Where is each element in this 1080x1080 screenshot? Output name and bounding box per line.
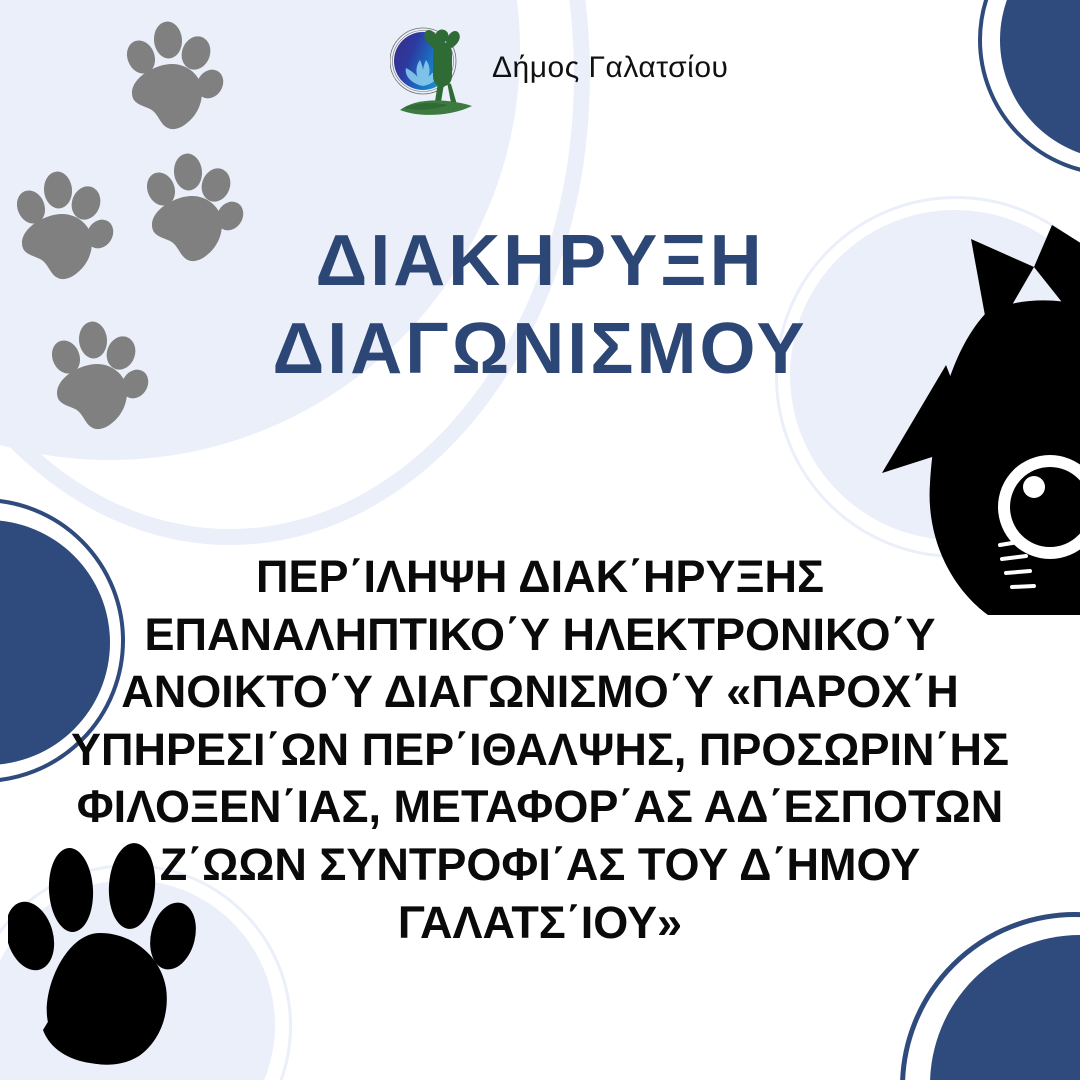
announcement-body-line: ΦΙΛΟΞΕΝ΄ΙΑΣ, ΜΕΤΑΦΟΡ΄ΑΣ ΑΔ΄ΕΣΠΟΤΩΝ <box>60 778 1020 836</box>
navy-circle-top-right <box>1000 0 1080 160</box>
announcement-body-line: ΕΠΑΝΑΛΗΠΤΙΚΟ΄Υ ΗΛΕΚΤΡΟΝΙΚΟ΄Υ <box>60 606 1020 664</box>
paw-print-icon <box>120 18 224 134</box>
announcement-body-line: ΑΝΟΙΚΤΟ΄Υ ΔΙΑΓΩΝΙΣΜΟ΄Υ «ΠΑΡΟΧ΄Η <box>60 663 1020 721</box>
page-title: ΔΙΑΚΗΡΥΞΗ ΔΙΑΓΩΝΙΣΜΟΥ <box>0 218 1080 394</box>
page-title-line: ΔΙΑΚΗΡΥΞΗ <box>0 218 1080 306</box>
dimos-galatsiou-emblem-icon <box>390 16 478 120</box>
logo-text: Δήμος Γαλατσίου <box>492 51 728 85</box>
announcement-body-line: ΥΠΗΡΕΣΙ΄ΩΝ ΠΕΡ΄ΙΘΑΛΨΗΣ, ΠΡΟΣΩΡΙΝ΄ΗΣ <box>60 721 1020 779</box>
navy-ring-top-right <box>978 0 1080 176</box>
logo-block: Δήμος Γαλατσίου <box>390 16 728 120</box>
page-title-line: ΔΙΑΓΩΝΙΣΜΟΥ <box>0 306 1080 394</box>
poster-canvas: Δήμος Γαλατσίου ΔΙΑΚΗΡΥΞΗ ΔΙΑΓΩΝΙΣΜΟΥ ΠΕ… <box>0 0 1080 1080</box>
paw-print-icon <box>8 838 223 1078</box>
announcement-body-line: ΠΕΡ΄ΙΛΗΨΗ ΔΙΑΚ΄ΗΡΥΞΗΣ <box>60 548 1020 606</box>
navy-circle-bottom-right <box>930 935 1080 1080</box>
